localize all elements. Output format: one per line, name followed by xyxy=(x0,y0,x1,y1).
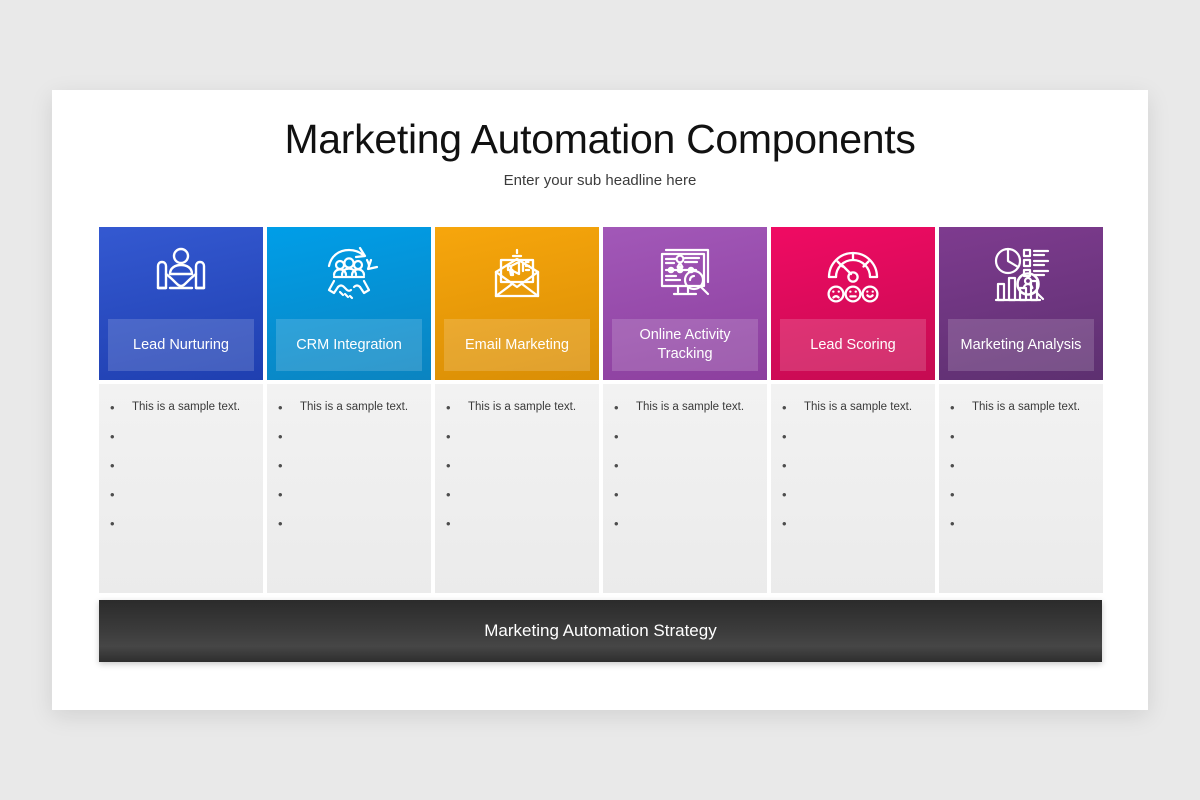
list-item[interactable]: • xyxy=(107,488,255,509)
bullet-marker: • xyxy=(443,488,460,501)
bullet-panel-email-marketing: • This is a sample text. • • • xyxy=(435,384,599,593)
slide-card: Marketing Automation Components Enter yo… xyxy=(52,90,1148,710)
bullet-marker: • xyxy=(779,401,796,414)
bullet-marker: • xyxy=(107,488,124,501)
bullet-text: This is a sample text. xyxy=(460,401,576,414)
component-tile-marketing-analysis[interactable]: Marketing Analysis xyxy=(939,227,1103,380)
handshake-people-icon xyxy=(267,238,431,312)
bullet-marker: • xyxy=(779,488,796,501)
list-item[interactable]: • xyxy=(275,430,423,451)
bullet-marker: • xyxy=(107,459,124,472)
list-item[interactable]: • xyxy=(107,517,255,538)
list-item[interactable]: • This is a sample text. xyxy=(107,401,255,422)
list-item[interactable]: • xyxy=(611,430,759,451)
component-column-email-marketing: Email Marketing • This is a sample text.… xyxy=(435,227,599,593)
list-item[interactable]: • xyxy=(611,488,759,509)
component-tile-online-activity-tracking[interactable]: Online Activity Tracking xyxy=(603,227,767,380)
list-item[interactable]: • This is a sample text. xyxy=(779,401,927,422)
bullet-marker: • xyxy=(947,401,964,414)
bullet-panel-crm-integration: • This is a sample text. • • • xyxy=(267,384,431,593)
list-item[interactable]: • xyxy=(443,488,591,509)
list-item[interactable]: • This is a sample text. xyxy=(275,401,423,422)
footer-label: Marketing Automation Strategy xyxy=(484,621,716,641)
component-tile-crm-integration[interactable]: CRM Integration xyxy=(267,227,431,380)
list-item[interactable]: • xyxy=(443,430,591,451)
component-tile-lead-nurturing[interactable]: Lead Nurturing xyxy=(99,227,263,380)
component-column-marketing-analysis: Marketing Analysis • This is a sample te… xyxy=(939,227,1103,593)
component-label: Lead Scoring xyxy=(780,319,926,371)
component-label: Marketing Analysis xyxy=(948,319,1094,371)
monitor-magnifier-icon xyxy=(603,238,767,312)
list-item[interactable]: • xyxy=(779,517,927,538)
list-item[interactable]: • xyxy=(779,488,927,509)
bullet-marker: • xyxy=(443,430,460,443)
bullet-marker: • xyxy=(611,430,628,443)
list-item[interactable]: • xyxy=(443,517,591,538)
bullet-marker: • xyxy=(779,459,796,472)
footer-banner: Marketing Automation Strategy xyxy=(99,600,1102,662)
bullet-text: This is a sample text. xyxy=(628,401,744,414)
bullet-marker: • xyxy=(275,401,292,414)
bullet-marker: • xyxy=(947,430,964,443)
gauge-faces-icon xyxy=(771,238,935,312)
bullet-text: This is a sample text. xyxy=(964,401,1080,414)
bullet-marker: • xyxy=(275,459,292,472)
bullet-marker: • xyxy=(947,517,964,530)
page-title: Marketing Automation Components xyxy=(52,116,1148,163)
bullet-panel-lead-scoring: • This is a sample text. • • • xyxy=(771,384,935,593)
bullet-marker: • xyxy=(275,517,292,530)
list-item[interactable]: • xyxy=(611,459,759,480)
pie-bar-magnifier-icon xyxy=(939,238,1103,312)
list-item[interactable]: • xyxy=(275,517,423,538)
slide-stage: Marketing Automation Components Enter yo… xyxy=(0,0,1200,800)
component-label: CRM Integration xyxy=(276,319,422,371)
list-item[interactable]: • xyxy=(779,430,927,451)
page-subtitle: Enter your sub headline here xyxy=(52,172,1148,189)
component-tile-email-marketing[interactable]: Email Marketing xyxy=(435,227,599,380)
component-tile-lead-scoring[interactable]: Lead Scoring xyxy=(771,227,935,380)
component-column-lead-nurturing: Lead Nurturing • This is a sample text. … xyxy=(99,227,263,593)
component-label: Email Marketing xyxy=(444,319,590,371)
bullet-marker: • xyxy=(443,401,460,414)
bullet-marker: • xyxy=(779,517,796,530)
components-row: Lead Nurturing • This is a sample text. … xyxy=(99,227,1102,593)
list-item[interactable]: • xyxy=(947,459,1095,480)
envelope-megaphone-icon xyxy=(435,238,599,312)
component-column-crm-integration: CRM Integration • This is a sample text.… xyxy=(267,227,431,593)
bullet-marker: • xyxy=(947,459,964,472)
bullet-text: This is a sample text. xyxy=(292,401,408,414)
person-in-hands-icon xyxy=(99,238,263,312)
list-item[interactable]: • xyxy=(947,517,1095,538)
bullet-marker: • xyxy=(275,488,292,501)
bullet-marker: • xyxy=(107,430,124,443)
list-item[interactable]: • xyxy=(443,459,591,480)
bullet-marker: • xyxy=(611,488,628,501)
bullet-marker: • xyxy=(611,517,628,530)
list-item[interactable]: • xyxy=(275,488,423,509)
bullet-marker: • xyxy=(443,459,460,472)
bullet-text: This is a sample text. xyxy=(124,401,240,414)
list-item[interactable]: • xyxy=(107,459,255,480)
bullet-panel-online-activity-tracking: • This is a sample text. • • • xyxy=(603,384,767,593)
bullet-marker: • xyxy=(107,401,124,414)
list-item[interactable]: • xyxy=(611,517,759,538)
list-item[interactable]: • xyxy=(107,430,255,451)
bullet-marker: • xyxy=(275,430,292,443)
list-item[interactable]: • This is a sample text. xyxy=(947,401,1095,422)
list-item[interactable]: • This is a sample text. xyxy=(611,401,759,422)
component-column-lead-scoring: Lead Scoring • This is a sample text. • … xyxy=(771,227,935,593)
component-label: Online Activity Tracking xyxy=(612,319,758,371)
bullet-marker: • xyxy=(611,401,628,414)
list-item[interactable]: • This is a sample text. xyxy=(443,401,591,422)
bullet-marker: • xyxy=(443,517,460,530)
list-item[interactable]: • xyxy=(779,459,927,480)
component-column-online-activity-tracking: Online Activity Tracking • This is a sam… xyxy=(603,227,767,593)
bullet-text: This is a sample text. xyxy=(796,401,912,414)
component-label: Lead Nurturing xyxy=(108,319,254,371)
list-item[interactable]: • xyxy=(947,430,1095,451)
list-item[interactable]: • xyxy=(947,488,1095,509)
bullet-marker: • xyxy=(779,430,796,443)
bullet-panel-lead-nurturing: • This is a sample text. • • • xyxy=(99,384,263,593)
bullet-panel-marketing-analysis: • This is a sample text. • • • xyxy=(939,384,1103,593)
bullet-marker: • xyxy=(947,488,964,501)
bullet-marker: • xyxy=(611,459,628,472)
list-item[interactable]: • xyxy=(275,459,423,480)
bullet-marker: • xyxy=(107,517,124,530)
